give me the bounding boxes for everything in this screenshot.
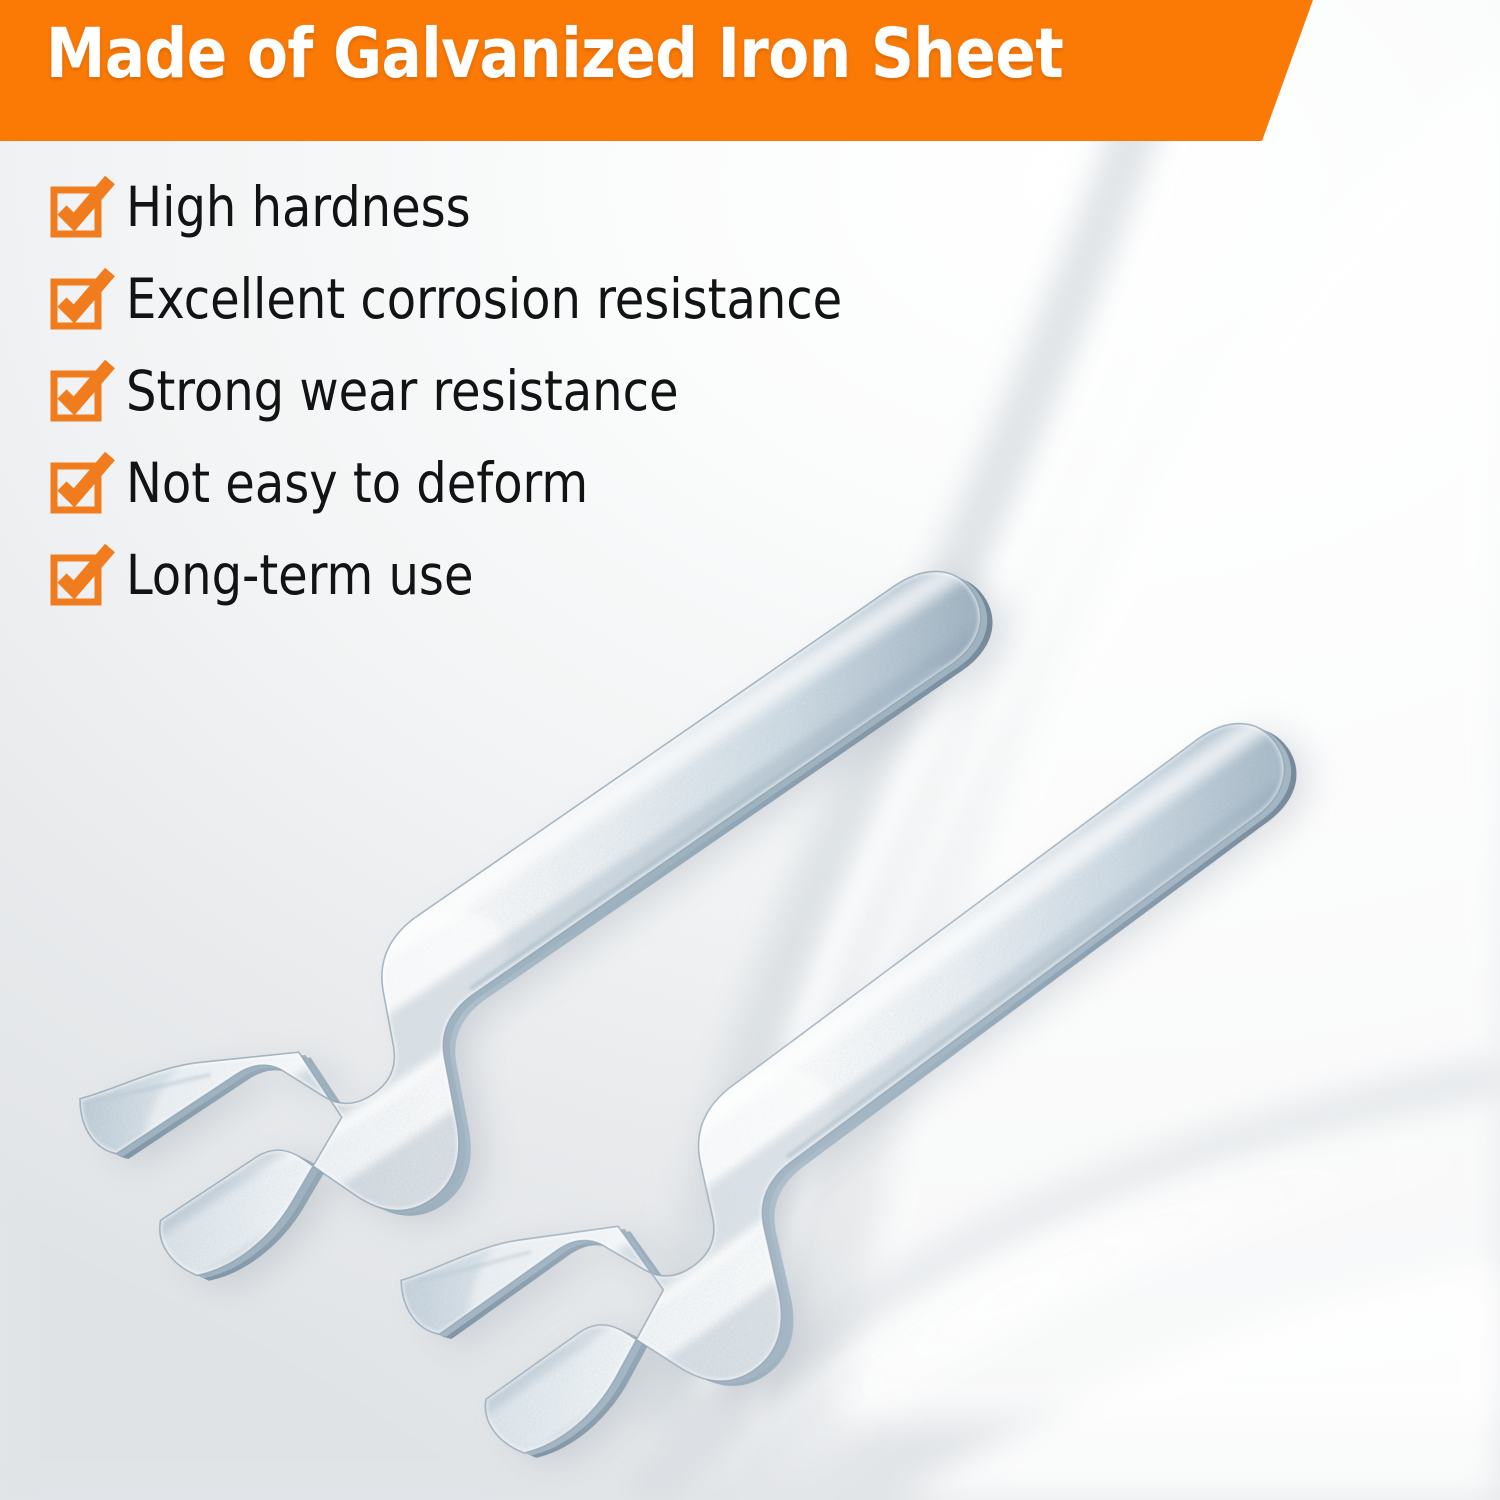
checkbox-checked-icon bbox=[50, 274, 106, 330]
list-item-label: Long-term use bbox=[126, 546, 473, 604]
product-feature-image: Made of Galvanized Iron Sheet High hardn… bbox=[0, 0, 1500, 1500]
list-item: Excellent corrosion resistance bbox=[50, 270, 1050, 362]
checkbox-checked-icon bbox=[50, 550, 106, 606]
checkbox-checked-icon bbox=[50, 366, 106, 422]
feature-list: High hardness Excellent corrosion resist… bbox=[50, 178, 1050, 638]
checkbox-checked-icon bbox=[50, 182, 106, 238]
list-item: Not easy to deform bbox=[50, 454, 1050, 546]
list-item-label: Not easy to deform bbox=[126, 454, 588, 512]
list-item: Strong wear resistance bbox=[50, 362, 1050, 454]
checkbox-checked-icon bbox=[50, 458, 106, 514]
page-title: Made of Galvanized Iron Sheet bbox=[46, 20, 1063, 89]
list-item: High hardness bbox=[50, 178, 1050, 270]
list-item-label: Strong wear resistance bbox=[126, 362, 679, 420]
list-item-label: High hardness bbox=[126, 178, 471, 236]
header-banner: Made of Galvanized Iron Sheet bbox=[0, 0, 1320, 141]
list-item-label: Excellent corrosion resistance bbox=[126, 270, 842, 328]
list-item: Long-term use bbox=[50, 546, 1050, 638]
